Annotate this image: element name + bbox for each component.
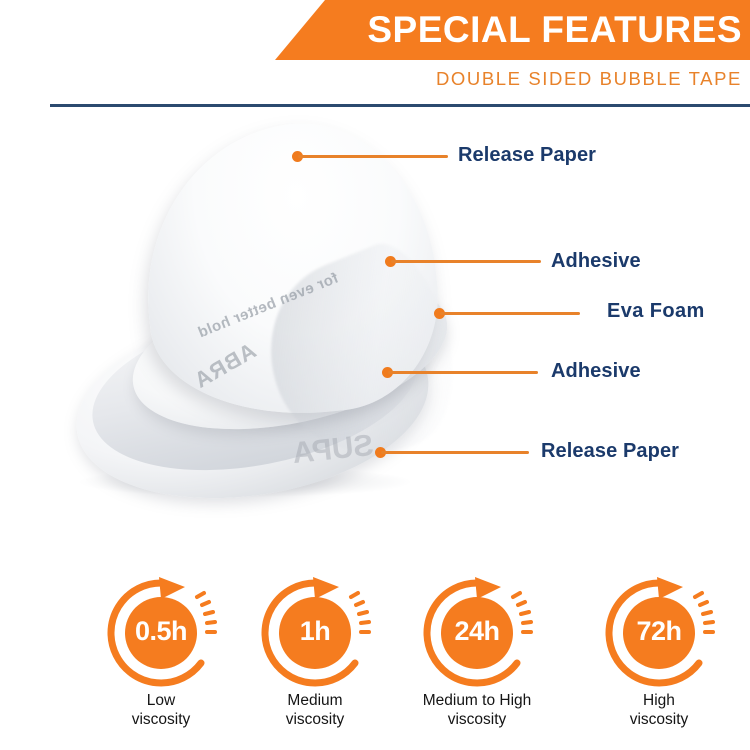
viscosity-caption-0: Low viscosity <box>86 691 236 729</box>
callout-line-eva-foam <box>440 312 580 315</box>
viscosity-caption-3-line2: viscosity <box>584 710 734 729</box>
viscosity-caption-3-line1: High <box>584 691 734 710</box>
viscosity-caption-2-line2: viscosity <box>402 710 552 729</box>
callout-line-bottom-adhesive <box>388 371 538 374</box>
viscosity-caption-2-line1: Medium to High <box>402 691 552 710</box>
viscosity-caption-0-line1: Low <box>86 691 236 710</box>
header-divider <box>50 104 750 107</box>
viscosity-value-2: 24h <box>421 575 533 687</box>
callout-line-top-adhesive <box>391 260 541 263</box>
callout-line-top-release-paper <box>298 155 448 158</box>
viscosity-badge-row: 0.5h Low viscosity <box>0 575 750 750</box>
viscosity-value-1: 1h <box>259 575 371 687</box>
callout-label-bottom-adhesive: Adhesive <box>551 360 641 383</box>
callout-label-top-adhesive: Adhesive <box>551 250 641 273</box>
viscosity-caption-1: Medium viscosity <box>240 691 390 729</box>
header: SPECIAL FEATURES DOUBLE SIDED BUBBLE TAP… <box>0 0 750 108</box>
viscosity-caption-1-line1: Medium <box>240 691 390 710</box>
viscosity-badge-3[interactable]: 72h High viscosity <box>584 575 734 729</box>
viscosity-caption-3: High viscosity <box>584 691 734 729</box>
callout-label-top-release-paper: Release Paper <box>458 144 596 167</box>
callout-line-bottom-release-paper <box>381 451 529 454</box>
infographic-page: SPECIAL FEATURES DOUBLE SIDED BUBBLE TAP… <box>0 0 750 750</box>
timer-icon-2: 24h <box>421 575 533 687</box>
viscosity-caption-0-line2: viscosity <box>86 710 236 729</box>
callout-label-eva-foam: Eva Foam <box>607 300 705 323</box>
timer-icon-1: 1h <box>259 575 371 687</box>
page-subtitle: DOUBLE SIDED BUBBLE TAPE <box>300 68 742 90</box>
timer-icon-0: 0.5h <box>105 575 217 687</box>
viscosity-badge-2[interactable]: 24h Medium to High viscosity <box>402 575 552 729</box>
viscosity-caption-2: Medium to High viscosity <box>402 691 552 729</box>
viscosity-badge-0[interactable]: 0.5h Low viscosity <box>86 575 236 729</box>
timer-icon-3: 72h <box>603 575 715 687</box>
page-title: SPECIAL FEATURES <box>330 2 742 58</box>
product-image: for even better hold ABRA SUPA <box>35 115 465 515</box>
viscosity-value-3: 72h <box>603 575 715 687</box>
viscosity-caption-1-line2: viscosity <box>240 710 390 729</box>
callout-label-bottom-release-paper: Release Paper <box>541 440 679 463</box>
viscosity-badge-1[interactable]: 1h Medium viscosity <box>240 575 390 729</box>
viscosity-value-0: 0.5h <box>105 575 217 687</box>
